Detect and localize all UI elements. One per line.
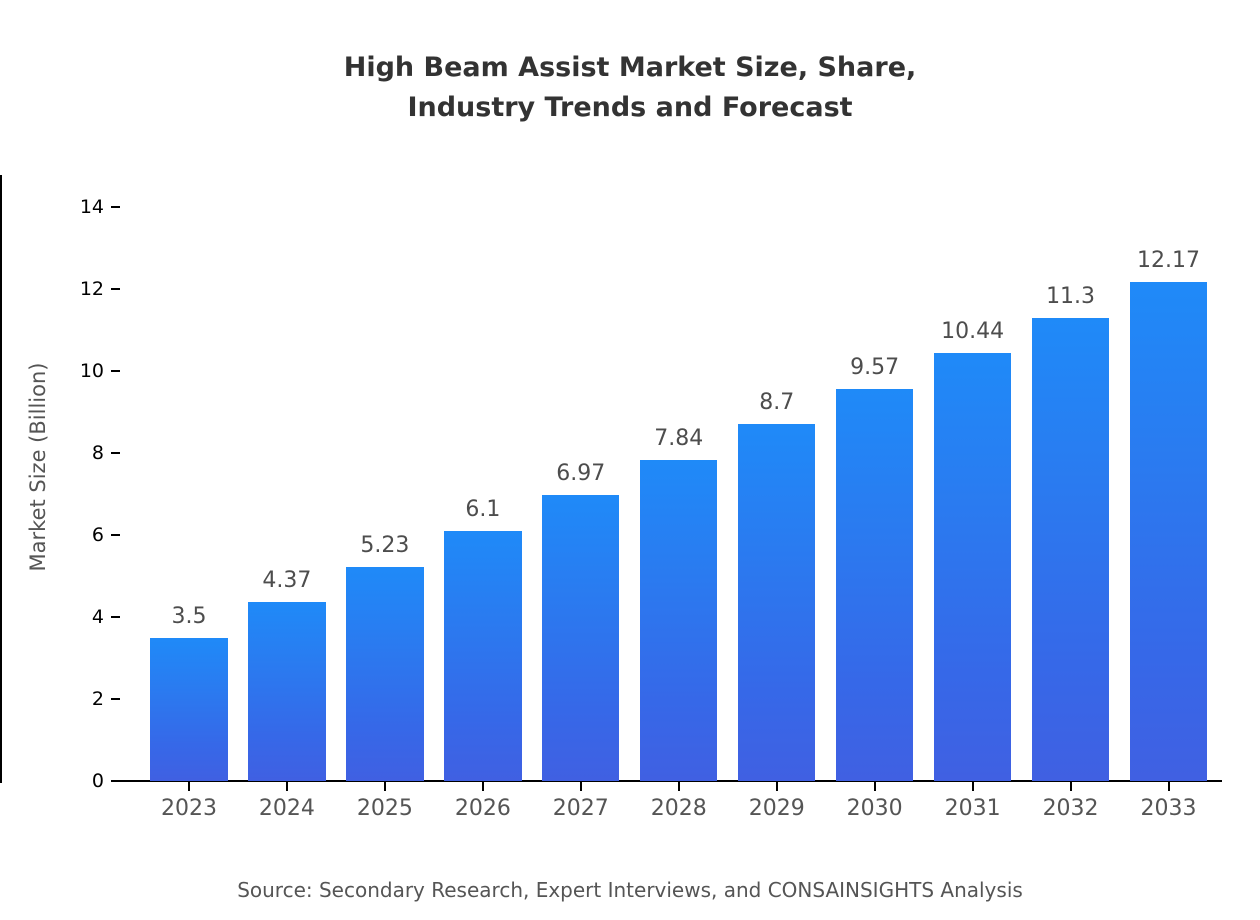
bar[interactable] (1032, 318, 1109, 781)
x-tick-mark (1168, 782, 1170, 791)
y-axis-spine (0, 175, 2, 783)
x-tick-mark (286, 782, 288, 791)
bar[interactable] (346, 567, 423, 781)
bar-value-label: 10.44 (893, 319, 1053, 345)
x-tick-mark (188, 782, 190, 791)
y-tick-label: 0 (92, 768, 104, 794)
chart-title-line-2: Industry Trends and Forecast (0, 88, 1260, 128)
chart-title: High Beam Assist Market Size, Share, Ind… (0, 48, 1260, 128)
bar-value-label: 11.3 (991, 284, 1151, 310)
bar-value-label: 12.17 (1089, 248, 1249, 274)
x-tick-mark (580, 782, 582, 791)
chart-title-line-1: High Beam Assist Market Size, Share, (0, 48, 1260, 88)
y-tick-mark (111, 452, 120, 454)
y-tick-label: 12 (80, 276, 104, 302)
x-tick-mark (384, 782, 386, 791)
bar[interactable] (1130, 282, 1207, 781)
bar[interactable] (738, 424, 815, 781)
y-tick-label: 2 (92, 686, 104, 712)
y-tick-mark (111, 370, 120, 372)
y-tick-mark (111, 534, 120, 536)
y-axis-title: Market Size (Billion) (26, 307, 50, 627)
x-tick-mark (482, 782, 484, 791)
y-tick-label: 10 (80, 358, 104, 384)
y-tick-label: 6 (92, 522, 104, 548)
bar-value-label: 5.23 (305, 533, 465, 559)
bar[interactable] (542, 495, 619, 781)
bar[interactable] (640, 460, 717, 781)
x-tick-label: 2033 (1099, 796, 1239, 821)
chart-figure: High Beam Assist Market Size, Share, Ind… (0, 0, 1260, 920)
x-tick-mark (1070, 782, 1072, 791)
bar[interactable] (934, 353, 1011, 781)
y-tick-mark (111, 780, 120, 782)
y-tick-mark (111, 698, 120, 700)
bar[interactable] (836, 389, 913, 781)
y-tick-mark (111, 288, 120, 290)
x-tick-mark (874, 782, 876, 791)
y-tick-label: 8 (92, 440, 104, 466)
bar-value-label: 3.5 (109, 604, 269, 630)
bar-value-label: 6.97 (501, 461, 661, 487)
bar-value-label: 6.1 (403, 497, 563, 523)
bar-value-label: 4.37 (207, 568, 367, 594)
bar-value-label: 9.57 (795, 355, 955, 381)
y-tick-mark (111, 206, 120, 208)
bar-value-label: 8.7 (697, 390, 857, 416)
x-tick-mark (776, 782, 778, 791)
y-tick-label: 14 (80, 194, 104, 220)
source-note: Source: Secondary Research, Expert Inter… (0, 878, 1260, 902)
x-tick-mark (972, 782, 974, 791)
bar[interactable] (248, 602, 325, 781)
x-tick-mark (678, 782, 680, 791)
bar[interactable] (150, 638, 227, 782)
bar[interactable] (444, 531, 521, 781)
bar-value-label: 7.84 (599, 426, 759, 452)
y-tick-label: 4 (92, 604, 104, 630)
